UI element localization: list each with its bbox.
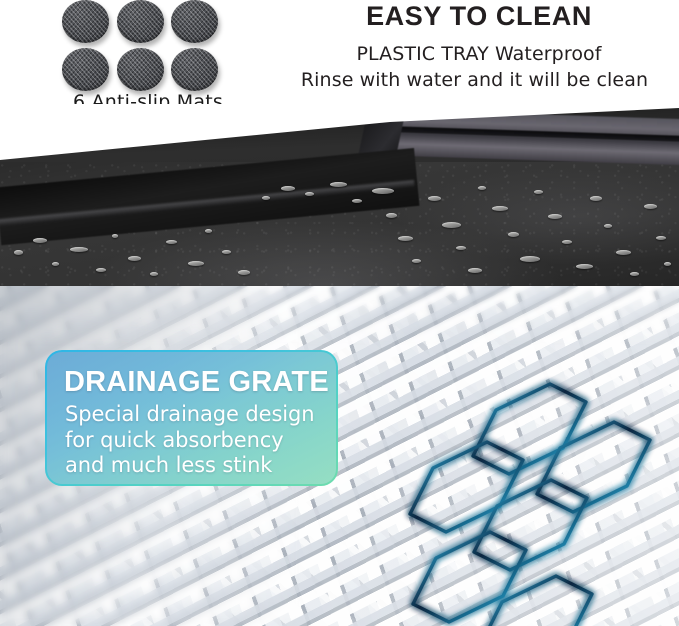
grate-blur-top bbox=[0, 286, 679, 346]
water-droplet bbox=[372, 188, 394, 194]
water-droplet bbox=[492, 206, 508, 211]
water-droplet bbox=[576, 264, 593, 269]
water-droplet bbox=[205, 229, 212, 233]
water-droplet bbox=[305, 192, 314, 196]
water-droplet bbox=[398, 236, 413, 241]
water-droplet bbox=[656, 236, 666, 240]
water-droplet bbox=[664, 262, 671, 266]
tray-photo bbox=[0, 104, 679, 286]
water-droplet bbox=[590, 196, 602, 201]
water-droplet bbox=[188, 261, 204, 266]
water-droplet bbox=[52, 262, 59, 266]
water-droplet bbox=[534, 190, 543, 194]
water-droplet bbox=[70, 247, 88, 252]
anti-slip-mats-group bbox=[58, 0, 233, 92]
anti-slip-mat-disc bbox=[62, 48, 109, 91]
water-droplet bbox=[330, 182, 347, 187]
product-feature-infographic: 6 Anti-slip Mats EASY TO CLEAN PLASTIC T… bbox=[0, 0, 679, 626]
water-droplet bbox=[14, 250, 23, 255]
water-droplet bbox=[166, 240, 177, 244]
callout-title: DRAINAGE GRATE bbox=[64, 366, 329, 399]
callout-line-2: for quick absorbency bbox=[65, 428, 314, 454]
water-droplet bbox=[386, 213, 397, 218]
water-droplet bbox=[478, 186, 486, 190]
headline-block: EASY TO CLEAN PLASTIC TRAY Waterproof Ri… bbox=[279, 0, 679, 93]
water-droplet bbox=[352, 199, 362, 203]
anti-slip-mat-disc bbox=[117, 0, 164, 43]
water-droplet bbox=[262, 196, 270, 200]
water-droplet bbox=[604, 224, 612, 228]
water-droplet bbox=[468, 268, 482, 273]
anti-slip-mat-disc bbox=[171, 0, 218, 43]
anti-slip-mat-disc bbox=[62, 0, 109, 43]
callout-description: Special drainage design for quick absorb… bbox=[65, 402, 314, 479]
water-droplet bbox=[630, 272, 639, 276]
water-droplet bbox=[128, 256, 141, 261]
drainage-grate-callout: DRAINAGE GRATE Special drainage design f… bbox=[45, 350, 338, 486]
water-droplet bbox=[616, 250, 631, 255]
headline-title: EASY TO CLEAN bbox=[279, 0, 679, 33]
anti-slip-mat-disc bbox=[117, 48, 164, 91]
water-droplet bbox=[238, 270, 250, 275]
water-droplet bbox=[112, 234, 118, 238]
anti-slip-mat-disc bbox=[171, 48, 218, 91]
water-droplet bbox=[644, 204, 657, 209]
water-droplet bbox=[456, 246, 466, 250]
water-droplet bbox=[150, 272, 158, 276]
water-droplet bbox=[520, 256, 540, 262]
water-droplet bbox=[428, 196, 441, 201]
water-droplet bbox=[442, 222, 461, 228]
callout-line-3: and much less stink bbox=[65, 453, 314, 479]
water-droplet bbox=[562, 240, 572, 244]
water-droplet bbox=[508, 232, 519, 237]
water-droplet bbox=[412, 259, 421, 263]
water-droplet bbox=[96, 268, 106, 272]
headline-subtitle-line2: Rinse with water and it will be clean bbox=[270, 67, 679, 93]
headline-subtitle-line1: PLASTIC TRAY Waterproof bbox=[279, 41, 679, 67]
water-droplet bbox=[33, 238, 47, 243]
callout-line-1: Special drainage design bbox=[65, 402, 314, 428]
water-droplet bbox=[548, 214, 562, 219]
water-droplet bbox=[222, 250, 231, 254]
water-droplet bbox=[281, 186, 295, 191]
